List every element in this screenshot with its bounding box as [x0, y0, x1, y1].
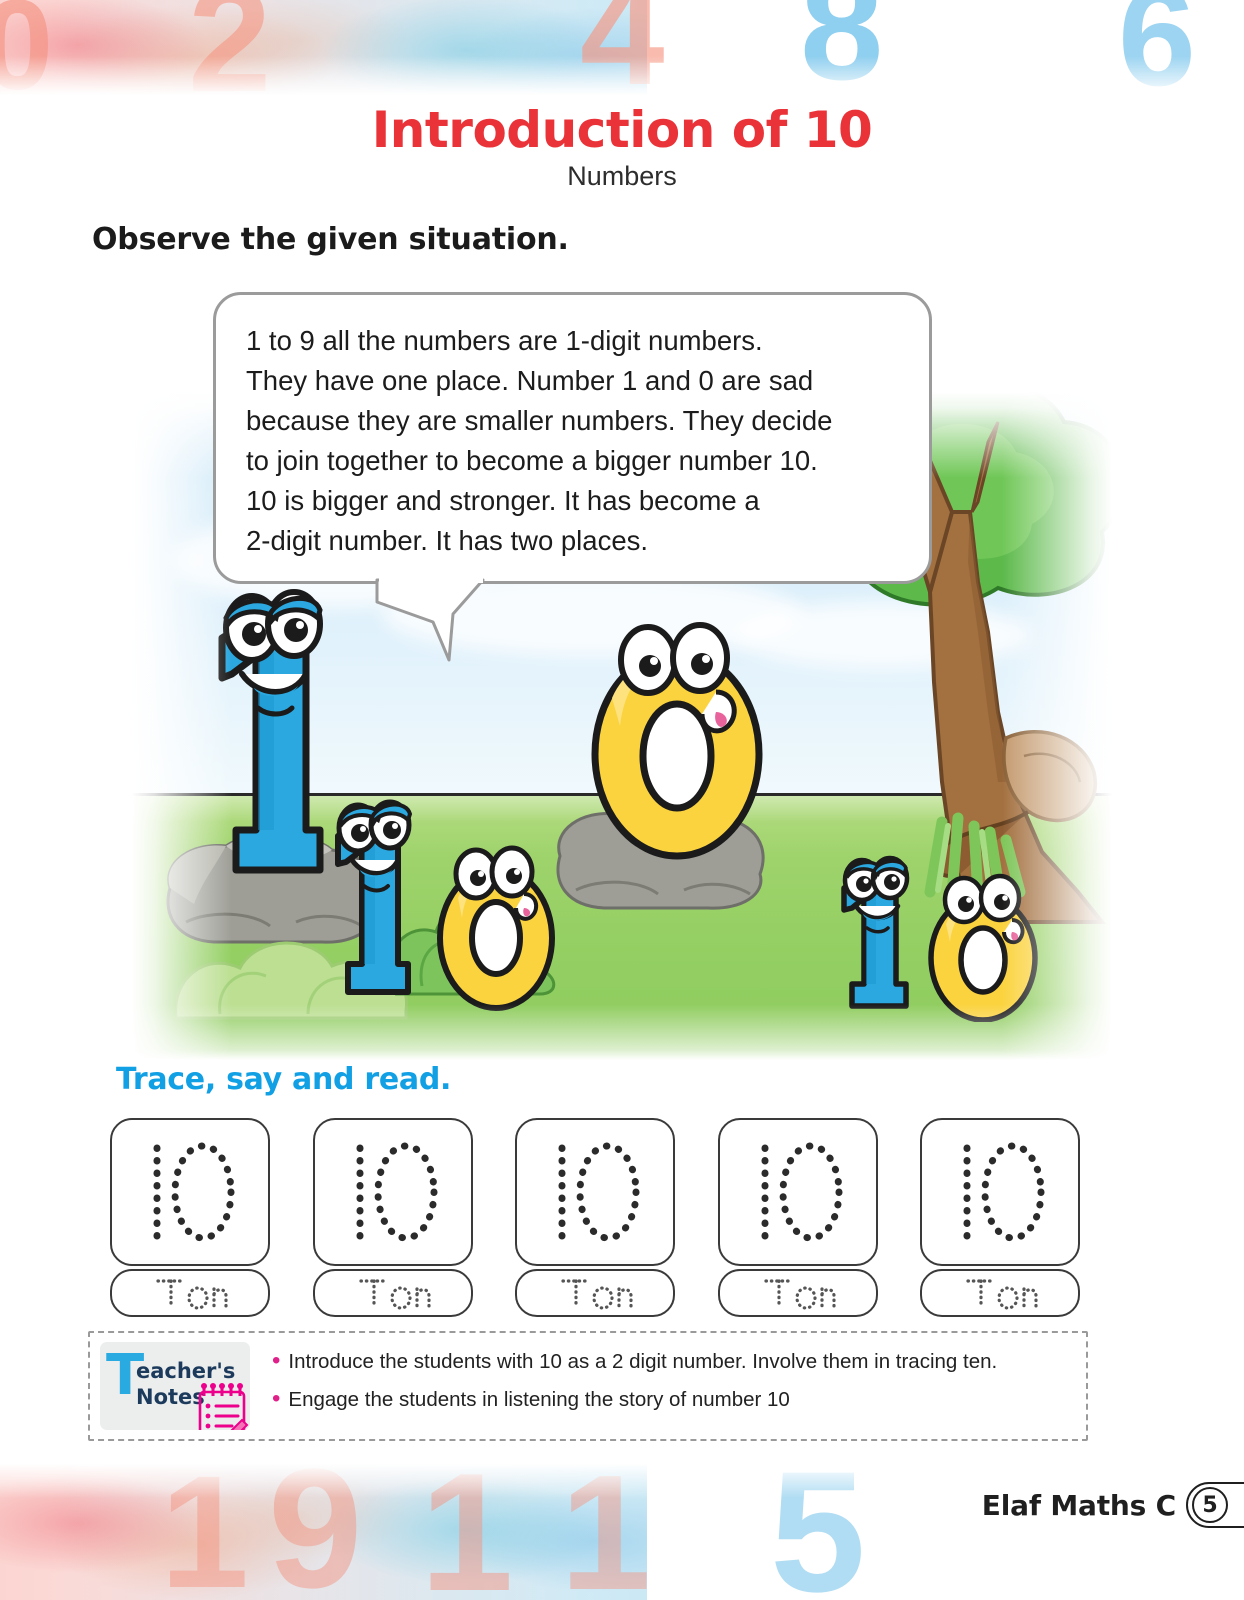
character-number-zero-small: [922, 872, 1044, 1022]
trace-numeral-box[interactable]: [313, 1118, 473, 1266]
trace-word-box[interactable]: [110, 1269, 270, 1317]
dotted-numeral-ten-icon: [135, 1136, 245, 1248]
page-title: Introduction of 10: [0, 104, 1244, 157]
dotted-numeral-ten-icon: [338, 1136, 448, 1248]
trace-cell[interactable]: [515, 1118, 675, 1317]
dotted-word-ten-icon: [150, 1274, 230, 1312]
trace-section-heading: Trace, say and read.: [116, 1062, 451, 1097]
character-number-one-small: [832, 852, 924, 1014]
speech-bubble: 1 to 9 all the numbers are 1-digit numbe…: [213, 292, 932, 584]
trace-word-box[interactable]: [313, 1269, 473, 1317]
badge-word-notes: Notes: [136, 1385, 205, 1409]
trace-row: [110, 1118, 1080, 1317]
badge-word-eachers: eacher's: [136, 1359, 235, 1383]
dotted-word-ten-icon: [758, 1274, 838, 1312]
trace-numeral-box[interactable]: [718, 1118, 878, 1266]
teacher-notes-box: T eacher's Notes: [88, 1331, 1088, 1441]
brand-title: Elaf Maths C: [982, 1489, 1176, 1522]
character-number-zero-medium: [432, 842, 560, 1014]
teacher-note-item: • Engage the students in listening the s…: [272, 1385, 1086, 1415]
teacher-note-item: • Introduce the students with 10 as a 2 …: [272, 1347, 1086, 1377]
teacher-note-text: Introduce the students with 10 as a 2 di…: [288, 1347, 997, 1377]
teacher-note-text: Engage the students in listening the sto…: [288, 1385, 789, 1415]
teacher-notes-list: • Introduce the students with 10 as a 2 …: [250, 1333, 1086, 1439]
top-band-fade: [0, 56, 1244, 100]
speech-bubble-text: 1 to 9 all the numbers are 1-digit numbe…: [246, 321, 899, 561]
footer-brand: Elaf Maths C 5: [982, 1482, 1244, 1528]
trace-word-box[interactable]: [920, 1269, 1080, 1317]
trace-cell[interactable]: [110, 1118, 270, 1317]
trace-cell[interactable]: [313, 1118, 473, 1317]
trace-numeral-box[interactable]: [920, 1118, 1080, 1266]
dotted-numeral-ten-icon: [540, 1136, 650, 1248]
teacher-notes-badge: T eacher's Notes: [100, 1342, 250, 1430]
dotted-numeral-ten-icon: [743, 1136, 853, 1248]
character-number-one-big: [202, 582, 352, 892]
trace-cell[interactable]: [920, 1118, 1080, 1317]
speech-bubble-tail: [375, 578, 495, 670]
dotted-numeral-ten-icon: [945, 1136, 1055, 1248]
trace-word-box[interactable]: [718, 1269, 878, 1317]
top-decorative-band: 0 2 4 8 6: [0, 0, 1244, 100]
trace-word-box[interactable]: [515, 1269, 675, 1317]
trace-numeral-box[interactable]: [110, 1118, 270, 1266]
trace-cell[interactable]: [718, 1118, 878, 1317]
notepad-icon: [200, 1383, 247, 1430]
page-number: 5: [1192, 1487, 1228, 1523]
teacher-notes-logo-icon: T eacher's Notes: [100, 1342, 250, 1430]
instruction-text: Observe the given situation.: [92, 222, 569, 257]
page-header: Introduction of 10 Numbers: [0, 104, 1244, 192]
page-number-pill: 5: [1186, 1482, 1244, 1528]
page-subtitle: Numbers: [0, 161, 1244, 192]
dotted-word-ten-icon: [555, 1274, 635, 1312]
bullet-icon: •: [272, 1387, 280, 1411]
character-number-zero-big: [582, 614, 772, 864]
bullet-icon: •: [272, 1349, 280, 1373]
bottom-decorative-band: 1 9 1 1 5: [0, 1460, 1244, 1600]
dotted-word-ten-icon: [353, 1274, 433, 1312]
dotted-word-ten-icon: [960, 1274, 1040, 1312]
trace-numeral-box[interactable]: [515, 1118, 675, 1266]
